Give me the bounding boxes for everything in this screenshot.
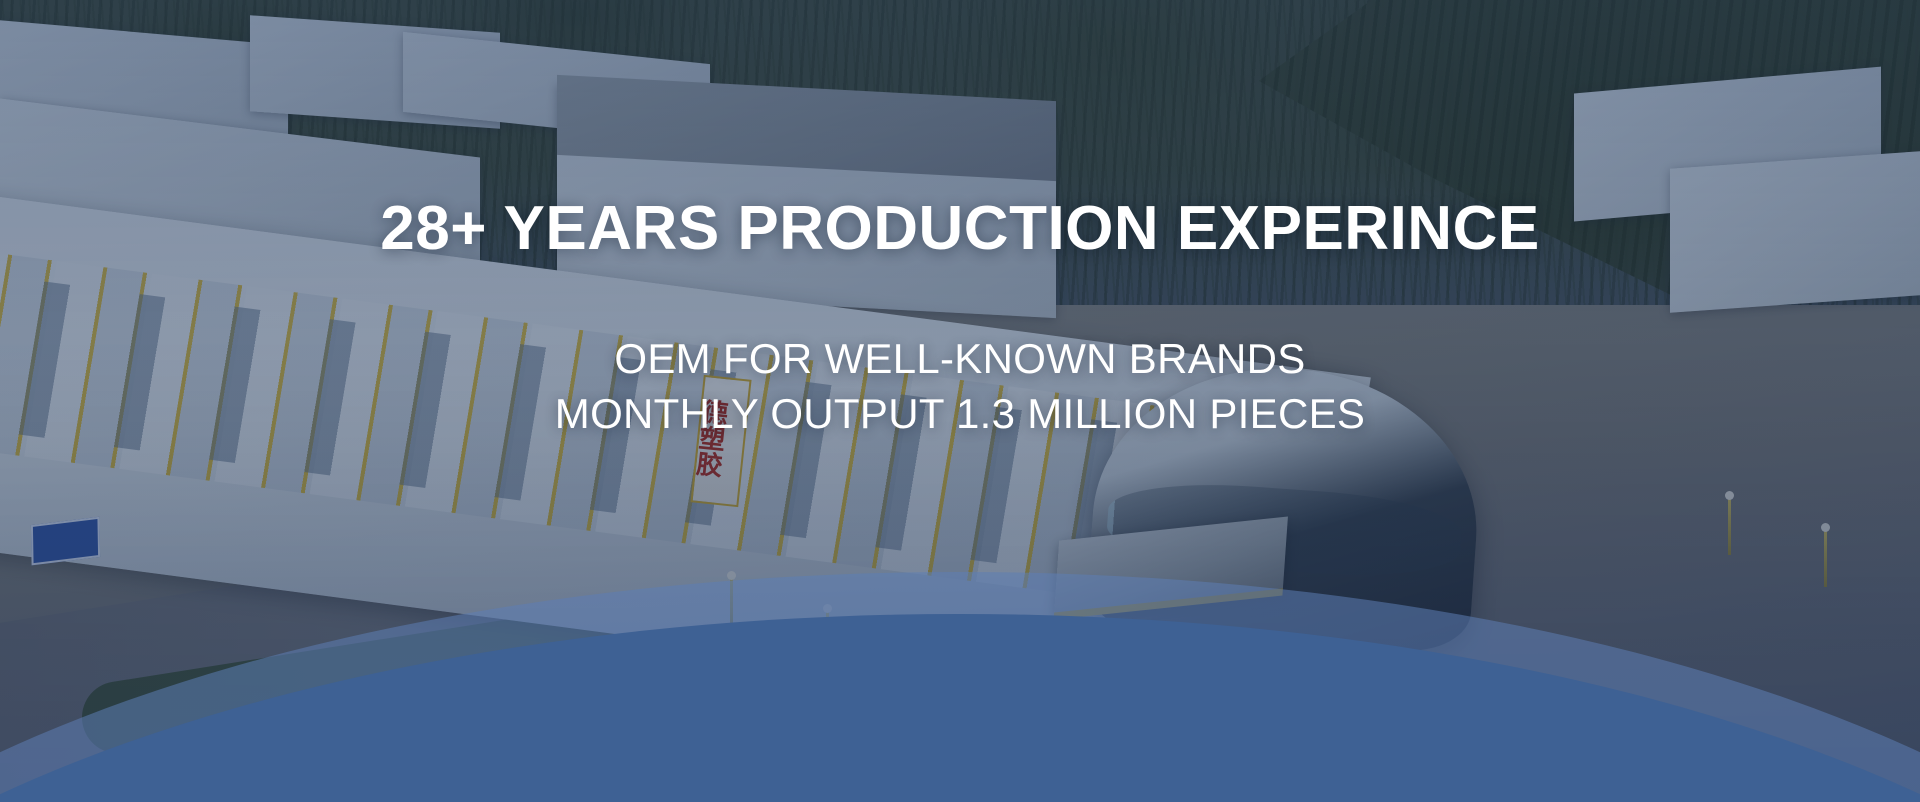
- background-photo: 德塑胶: [0, 0, 1920, 802]
- hero-banner: 德塑胶 28+ YEARS PRODUCTION EXPERINCE OEM F…: [0, 0, 1920, 802]
- photo-color-grade-overlay: [0, 0, 1920, 802]
